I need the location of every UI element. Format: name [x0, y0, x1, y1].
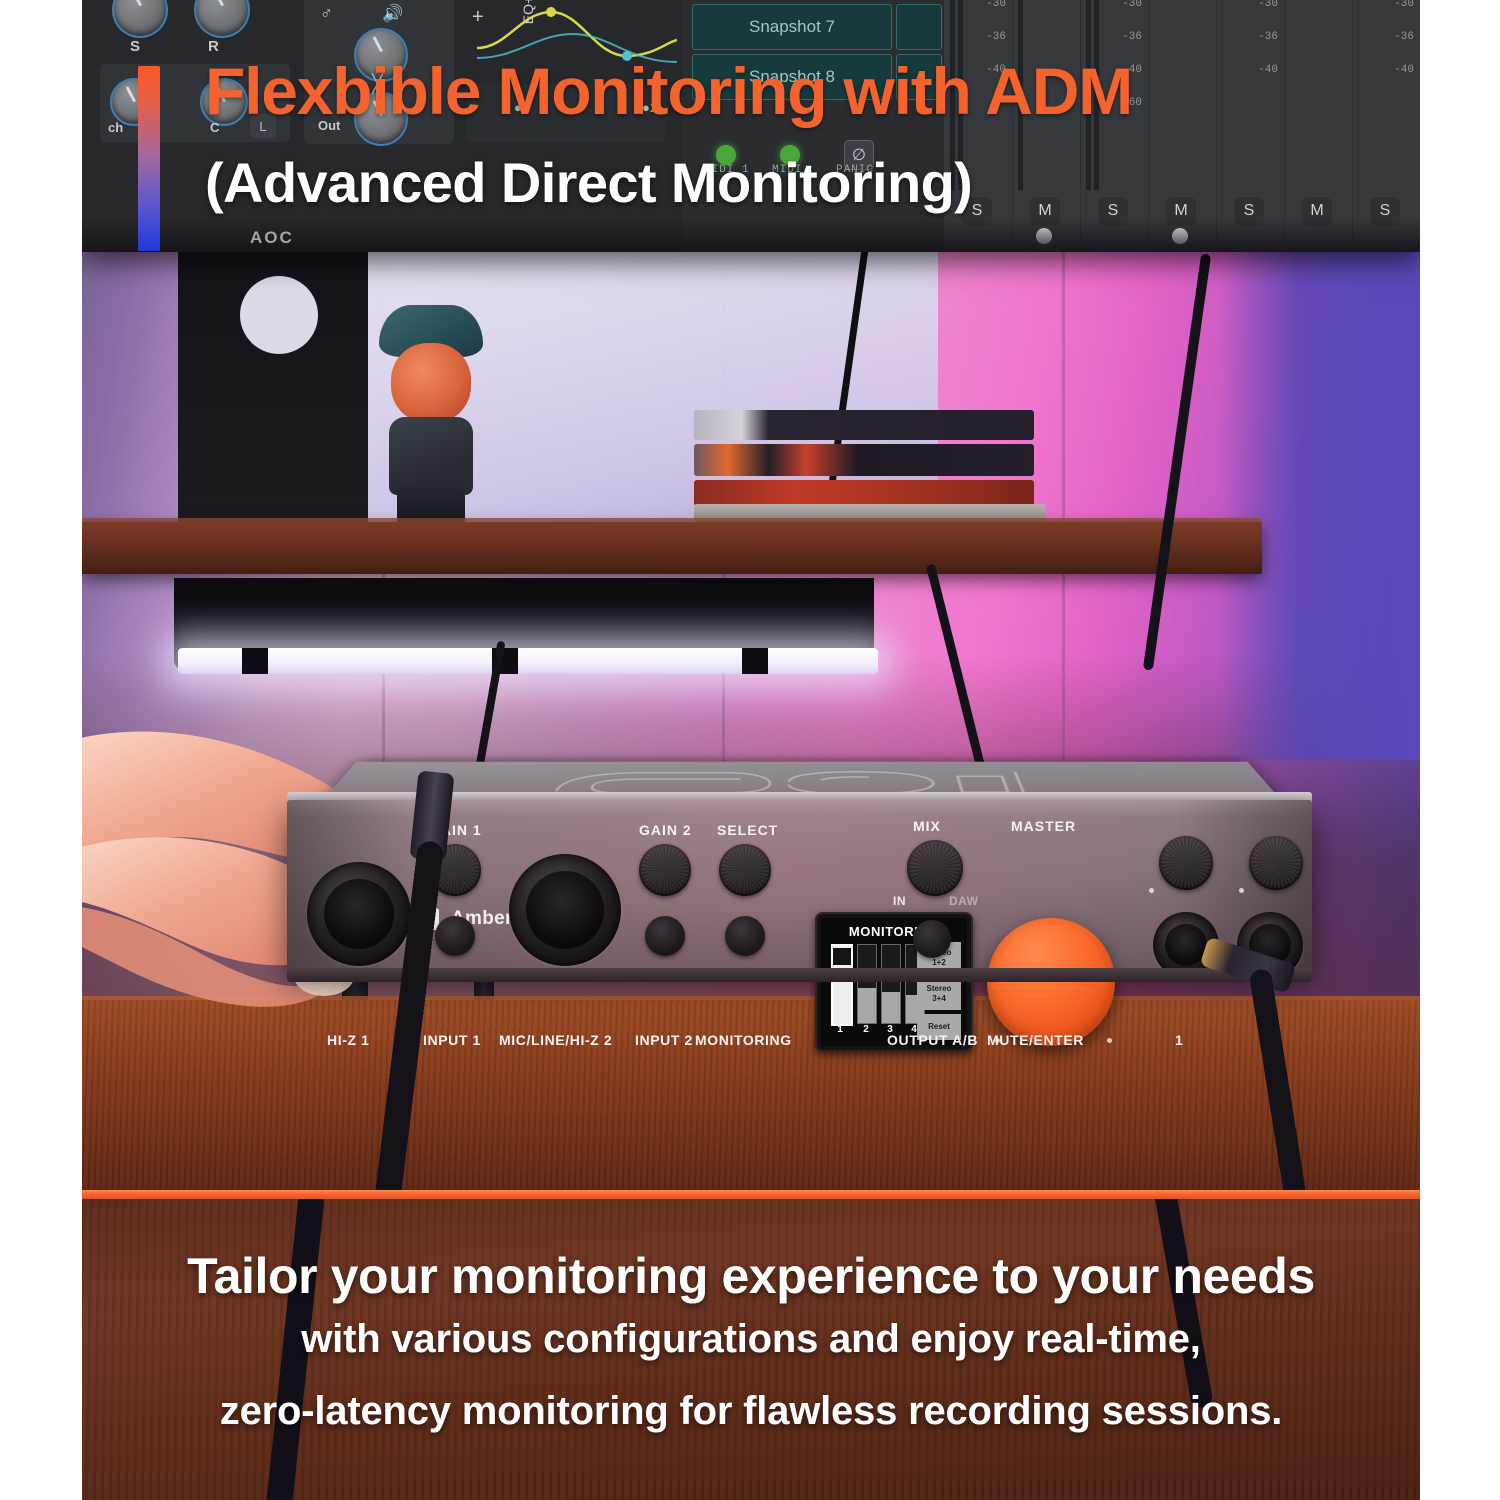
interface-bottom-edge [287, 968, 1312, 982]
phones-1-led [1149, 888, 1154, 893]
book-stack [694, 410, 1044, 522]
lcd-btn2-line1: Stereo [927, 984, 952, 993]
label-mix: MIX [913, 818, 941, 834]
book-item [694, 480, 1034, 506]
lcd-button-stereo-3-4[interactable]: Stereo 3+4 [917, 978, 961, 1010]
label-mute-enter: MUTE/ENTER [987, 1032, 1084, 1048]
figurine-body [389, 417, 473, 495]
input-2-button[interactable] [645, 916, 685, 956]
mute-led-right [1107, 1038, 1112, 1043]
label-output-ab: OUTPUT A/B [887, 1032, 978, 1048]
desk-figurine [375, 305, 487, 527]
master-volume-knob[interactable] [987, 918, 1115, 1046]
book-item [694, 410, 1034, 440]
label-mic-line-hiz-2: MIC/LINE/HI-Z 2 [499, 1032, 612, 1048]
phones-2-led [1239, 888, 1244, 893]
lcd-btn3-line1: Reset [928, 1022, 950, 1032]
combo-input-jack-1[interactable] [307, 862, 411, 966]
label-gain-2: GAIN 2 [639, 822, 692, 838]
combo-input-jack-2[interactable] [509, 854, 621, 966]
input-1-button[interactable] [435, 916, 475, 956]
led-strip-gap [242, 648, 268, 674]
caption-line-3: zero-latency monitoring for flawless rec… [82, 1389, 1420, 1434]
mixer-strip: -24-30 -36-40 S [1216, 0, 1285, 252]
gain-2-knob[interactable] [639, 844, 691, 896]
led-light-strip [178, 648, 878, 674]
label-master: MASTER [1011, 818, 1076, 834]
caption-section: Tailor your monitoring experience to you… [82, 1199, 1420, 1500]
phones-1-volume-knob[interactable] [1159, 836, 1213, 890]
book-item [694, 444, 1034, 476]
daw-send-knobs [112, 0, 250, 38]
lcd-fader-1[interactable] [831, 944, 853, 1026]
label-input-1: INPUT 1 [423, 1032, 481, 1048]
lcd-btn2-line2: 3+4 [932, 994, 946, 1003]
mixer-db-scale: -24-30 -36-40 [1394, 0, 1414, 98]
mixer-strip: M [1284, 0, 1353, 252]
mixer-strip: -24-30 -36-40 S [1352, 0, 1420, 252]
lcd-fader-1-number: 1 [831, 1024, 849, 1035]
monitoring-button[interactable] [725, 916, 765, 956]
mix-knob[interactable] [907, 840, 963, 896]
label-select: SELECT [717, 822, 778, 838]
headline-secondary: (Advanced Direct Monitoring) [205, 155, 1385, 211]
lcd-btn1-line2: 1+2 [932, 958, 946, 967]
phones-2-volume-knob[interactable] [1249, 836, 1303, 890]
label-phones-1: 1 [1175, 1032, 1183, 1048]
mixer-strip: M [1148, 0, 1217, 252]
led-strip-gap [742, 648, 768, 674]
lcd-fader-2[interactable] [857, 944, 877, 1024]
desk-shelf [82, 522, 1262, 574]
label-input-2: INPUT 2 [635, 1032, 693, 1048]
select-knob[interactable] [719, 844, 771, 896]
headline-accent-bar [138, 66, 160, 251]
section-divider [82, 1190, 1420, 1199]
snapshot-side-button[interactable] [896, 4, 942, 50]
daw-speaker-icon: 🔊 [382, 4, 403, 24]
daw-mic-icon: ♂ [320, 4, 333, 24]
caption-line-2: with various configurations and enjoy re… [82, 1317, 1420, 1362]
label-monitoring: MONITORING [695, 1032, 792, 1048]
product-marketing-image: esi Amberi4 HI-Z 1 GAIN 1 INPUT 1 [0, 0, 1500, 1500]
caption-line-1: Tailor your monitoring experience to you… [82, 1247, 1420, 1305]
snapshot-item[interactable]: Snapshot 7 [692, 4, 892, 50]
label-mix-daw: DAW [949, 894, 979, 908]
label-mix-in: IN [893, 894, 906, 908]
daw-knob-r[interactable] [194, 0, 250, 38]
daw-label-ch: ch [108, 120, 123, 135]
output-ab-button[interactable] [913, 920, 951, 958]
figurine-head [391, 343, 471, 423]
daw-knob-r-label: R [208, 38, 219, 55]
daw-knob-s-label: S [130, 38, 140, 55]
monitor-brand-logo: AOC [250, 228, 294, 248]
label-hiz-1: HI-Z 1 [327, 1032, 370, 1048]
lcd-fader-2-number: 2 [857, 1024, 875, 1035]
headline-primary: Flexbible Monitoring with ADM [205, 58, 1385, 124]
lcd-fader-3[interactable] [881, 944, 901, 1024]
daw-knob-s[interactable] [112, 0, 168, 38]
